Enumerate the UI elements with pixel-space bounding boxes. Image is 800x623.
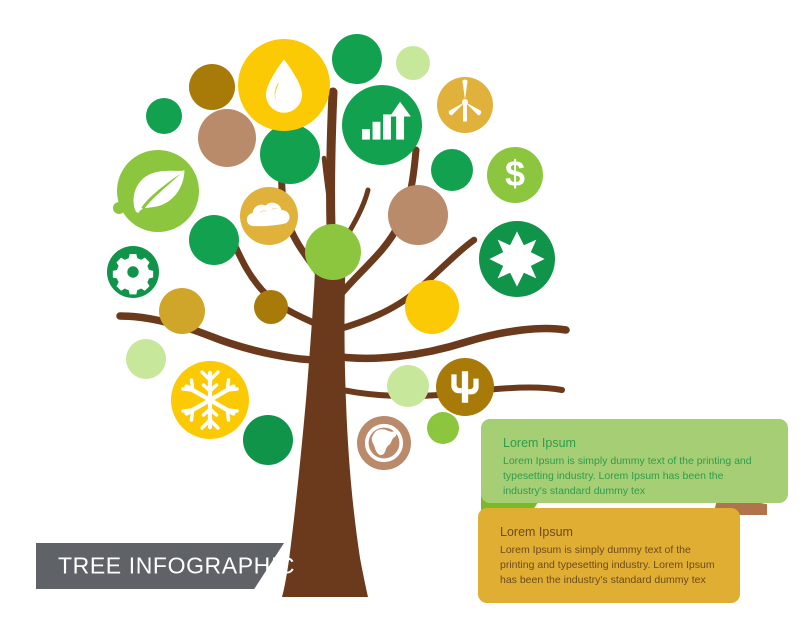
globe-icon[interactable] [357, 416, 411, 470]
cloud-icon[interactable] [240, 187, 298, 245]
dot-green-small-left [146, 98, 182, 134]
dot-ochre-top [189, 64, 235, 110]
title-banner: TREE INFOGRAPHIC [36, 543, 284, 589]
dot-yellow-mid [405, 280, 459, 334]
dollar-sign-icon[interactable] [487, 147, 543, 203]
dot-ochre-mid [159, 288, 205, 334]
callout-green[interactable]: Lorem Ipsum Lorem Ipsum is simply dummy … [481, 419, 788, 503]
dot-greenlight-center [305, 224, 361, 280]
water-drop-icon[interactable] [238, 39, 330, 131]
callout-gold[interactable]: Lorem Ipsum Lorem Ipsum is simply dummy … [478, 508, 740, 603]
dot-green-mid [260, 124, 320, 184]
dot-green-top [332, 34, 382, 84]
sun-icon[interactable] [479, 221, 555, 297]
dot-green-left-lower [189, 215, 239, 265]
dot-pale-top [396, 46, 430, 80]
dot-green-lower [243, 415, 293, 465]
page-title: TREE INFOGRAPHIC [58, 553, 295, 580]
gear-icon[interactable] [107, 246, 159, 298]
snowflake-icon[interactable] [171, 361, 249, 439]
dot-greenlight-lower [427, 412, 459, 444]
callout-gold-title: Lorem Ipsum [500, 524, 718, 541]
dot-pale-lower-right [387, 365, 429, 407]
dot-green-right [431, 149, 473, 191]
callout-green-body: Lorem Ipsum is simply dummy text of the … [503, 454, 766, 499]
wind-turbine-icon[interactable] [437, 77, 493, 133]
dot-brown-upper [198, 109, 256, 167]
infographic-canvas: $ [0, 0, 800, 623]
dot-pale-left [126, 339, 166, 379]
cactus-icon[interactable] [436, 358, 494, 416]
growth-chart-icon[interactable] [342, 85, 422, 165]
callout-green-title: Lorem Ipsum [503, 435, 766, 452]
leaf-icon[interactable] [117, 150, 199, 232]
dot-ochre-small [254, 290, 288, 324]
dot-brown-right [388, 185, 448, 245]
tree-trunk [282, 246, 368, 598]
callout-gold-body: Lorem Ipsum is simply dummy text of the … [500, 543, 718, 588]
